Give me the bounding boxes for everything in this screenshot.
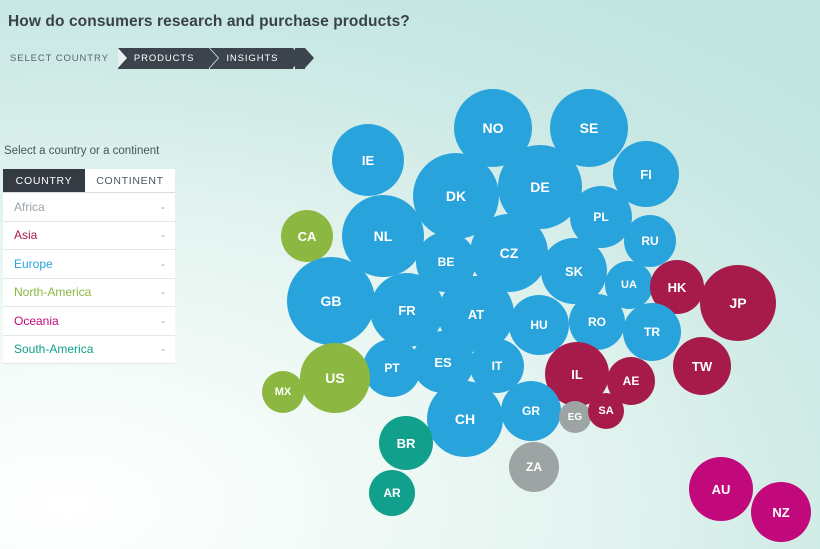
bubble-ar[interactable]: AR (369, 470, 415, 516)
bubble-label: SE (580, 120, 599, 136)
bubble-label: PT (384, 361, 399, 375)
bubble-label: RO (588, 315, 606, 329)
bubble-label: GR (522, 404, 540, 418)
bubble-label: SK (565, 264, 583, 279)
bubble-label: TR (644, 325, 660, 339)
bubble-label: NZ (772, 505, 789, 520)
bubble-label: JP (729, 295, 746, 311)
bubble-ie[interactable]: IE (332, 124, 404, 196)
country-bubble-chart: NOSEIEFIDKDEPLNLCARUCZBESKUAHKJPGBFRATHU… (0, 0, 820, 549)
bubble-label: IE (362, 153, 374, 168)
bubble-label: PL (593, 210, 608, 224)
bubble-label: FR (398, 303, 415, 318)
bubble-gr[interactable]: GR (501, 381, 561, 441)
bubble-label: HU (530, 318, 547, 332)
bubble-label: ES (434, 355, 451, 370)
bubble-label: AT (468, 307, 484, 322)
bubble-gb[interactable]: GB (287, 257, 375, 345)
bubble-label: AR (383, 486, 400, 500)
bubble-tr[interactable]: TR (623, 303, 681, 361)
bubble-au[interactable]: AU (689, 457, 753, 521)
bubble-ca[interactable]: CA (281, 210, 333, 262)
bubble-label: HK (668, 280, 687, 295)
bubble-label: DK (446, 188, 466, 204)
bubble-nz[interactable]: NZ (751, 482, 811, 542)
app-root: How do consumers research and purchase p… (0, 0, 820, 549)
bubble-label: US (325, 370, 344, 386)
bubble-label: DE (530, 179, 549, 195)
bubble-label: FI (640, 167, 652, 182)
bubble-label: TW (692, 359, 712, 374)
bubble-label: NL (374, 228, 393, 244)
bubble-label: MX (275, 386, 292, 398)
bubble-ru[interactable]: RU (624, 215, 676, 267)
bubble-label: IT (492, 359, 503, 373)
bubble-label: BR (397, 436, 416, 451)
bubble-label: SA (598, 405, 613, 417)
bubble-label: GB (321, 293, 342, 309)
bubble-label: AU (712, 482, 731, 497)
bubble-label: RU (641, 234, 658, 248)
bubble-us[interactable]: US (300, 343, 370, 413)
bubble-jp[interactable]: JP (700, 265, 776, 341)
bubble-tw[interactable]: TW (673, 337, 731, 395)
bubble-label: CA (298, 229, 317, 244)
bubble-label: NO (483, 120, 504, 136)
bubble-label: IL (571, 367, 583, 382)
bubble-label: UA (621, 279, 637, 291)
bubble-label: CH (455, 411, 475, 427)
bubble-za[interactable]: ZA (509, 442, 559, 492)
bubble-label: EG (568, 412, 582, 423)
bubble-label: ZA (526, 460, 542, 474)
bubble-eg[interactable]: EG (559, 401, 591, 433)
bubble-ch[interactable]: CH (427, 381, 503, 457)
bubble-label: CZ (500, 245, 519, 261)
bubble-mx[interactable]: MX (262, 371, 304, 413)
bubble-label: BE (438, 255, 455, 269)
bubble-sa[interactable]: SA (588, 393, 624, 429)
bubble-br[interactable]: BR (379, 416, 433, 470)
bubble-label: AE (623, 374, 640, 388)
